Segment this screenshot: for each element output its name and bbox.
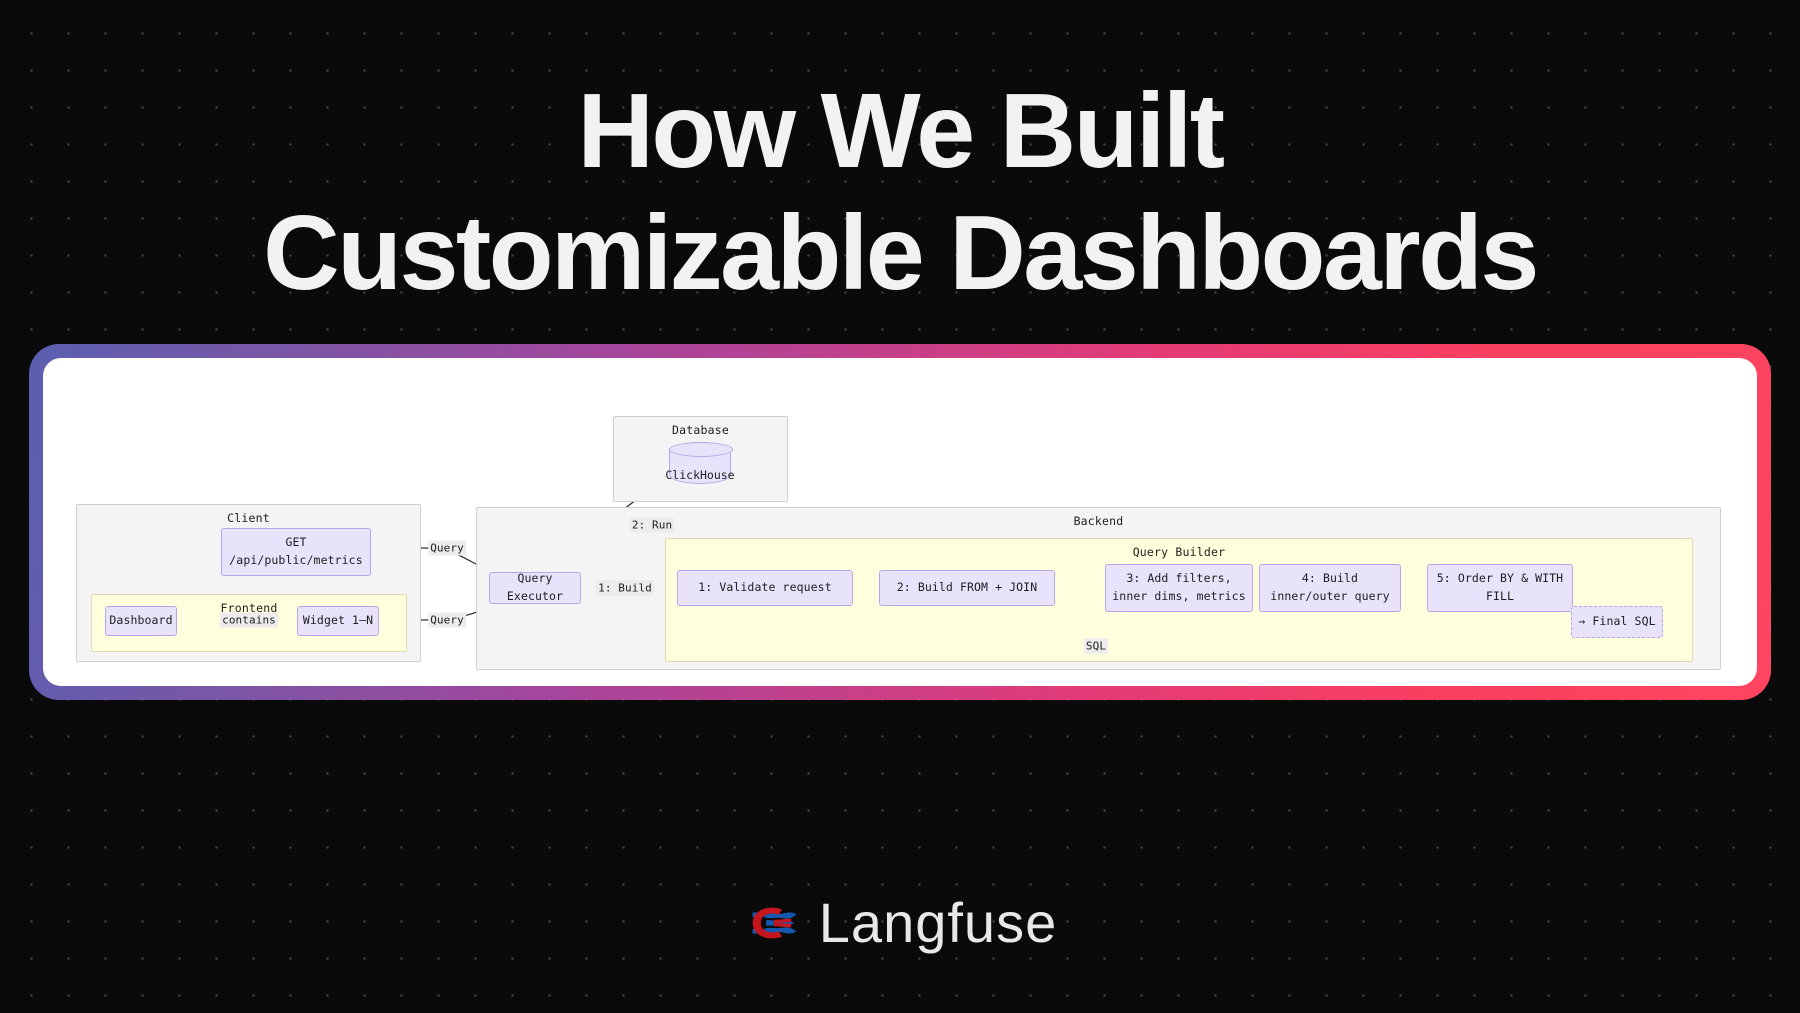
node-step-3-line2: inner dims, metrics bbox=[1112, 588, 1245, 606]
cluster-database-label: Database bbox=[614, 423, 787, 437]
node-final-sql[interactable]: → Final SQL bbox=[1571, 606, 1663, 638]
node-step-4-line1: 4: Build bbox=[1302, 570, 1358, 588]
diagram-card-inner: Client GET /api/public/metrics Frontend … bbox=[43, 358, 1757, 686]
cluster-query-builder-label: Query Builder bbox=[666, 545, 1692, 559]
node-step-5-line1: 5: Order BY & WITH bbox=[1437, 570, 1563, 588]
diagram-card: Client GET /api/public/metrics Frontend … bbox=[29, 344, 1771, 700]
node-clickhouse-label: ClickHouse bbox=[665, 468, 734, 482]
edge-label-run: 2: Run bbox=[630, 518, 674, 533]
edge-label-sql: SQL bbox=[1084, 639, 1108, 654]
node-step-5-order-by-fill[interactable]: 5: Order BY & WITH FILL bbox=[1427, 564, 1573, 612]
brand-name: Langfuse bbox=[819, 890, 1057, 955]
node-step-2-build-from-join[interactable]: 2: Build FROM + JOIN bbox=[879, 570, 1055, 606]
node-step-5-line2: FILL bbox=[1486, 588, 1514, 606]
node-step-3-add-filters[interactable]: 3: Add filters, inner dims, metrics bbox=[1105, 564, 1253, 612]
node-get-line1: GET bbox=[285, 534, 306, 552]
title-line-1: How We Built bbox=[0, 78, 1800, 184]
cluster-client-label: Client bbox=[77, 511, 420, 525]
langfuse-logo-icon bbox=[743, 903, 797, 943]
node-step-4-line2: inner/outer query bbox=[1270, 588, 1389, 606]
node-widget[interactable]: Widget 1–N bbox=[297, 606, 379, 636]
node-get-endpoint[interactable]: GET /api/public/metrics bbox=[221, 528, 371, 576]
node-dashboard-label: Dashboard bbox=[109, 612, 172, 630]
node-dashboard[interactable]: Dashboard bbox=[105, 606, 177, 636]
node-query-executor[interactable]: Query Executor bbox=[489, 572, 581, 604]
node-step-3-line1: 3: Add filters, bbox=[1126, 570, 1231, 588]
node-step-2-label: 2: Build FROM + JOIN bbox=[897, 579, 1037, 597]
node-query-executor-label: Query Executor bbox=[490, 570, 580, 606]
node-widget-label: Widget 1–N bbox=[303, 612, 373, 630]
node-step-4-inner-outer[interactable]: 4: Build inner/outer query bbox=[1259, 564, 1401, 612]
node-step-1-validate[interactable]: 1: Validate request bbox=[677, 570, 853, 606]
page-title: How We Built Customizable Dashboards bbox=[0, 78, 1800, 306]
architecture-diagram: Client GET /api/public/metrics Frontend … bbox=[43, 358, 1757, 686]
edge-label-build: 1: Build bbox=[596, 581, 654, 596]
edge-label-query-bottom: Query bbox=[428, 613, 466, 628]
node-clickhouse[interactable]: ClickHouse bbox=[669, 442, 731, 484]
edge-label-query-top: Query bbox=[428, 541, 466, 556]
node-get-line2: /api/public/metrics bbox=[229, 552, 362, 570]
node-final-sql-label: → Final SQL bbox=[1578, 613, 1655, 631]
brand-footer: Langfuse bbox=[0, 890, 1800, 955]
edge-label-contains: contains bbox=[220, 613, 278, 628]
node-step-1-label: 1: Validate request bbox=[698, 579, 831, 597]
poster-canvas: How We Built Customizable Dashboards bbox=[0, 0, 1800, 1013]
title-line-2: Customizable Dashboards bbox=[0, 200, 1800, 306]
